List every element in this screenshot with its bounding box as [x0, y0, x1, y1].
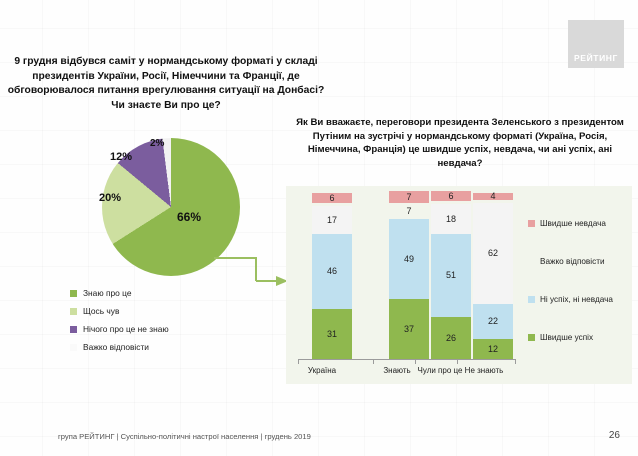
- pie-value-vazhko: 2%: [150, 138, 164, 149]
- axis-tick: [373, 360, 374, 364]
- bar-column-ukraina: 31 46 17 6: [312, 193, 352, 359]
- pie-legend-label: Знаю про це: [83, 288, 132, 298]
- bar-legend-label: Швидше невдача: [540, 219, 606, 228]
- pie-legend-item-3: Важко відповісти: [70, 342, 280, 352]
- bar-segment-green: 37: [389, 299, 429, 359]
- bar-segment-white: 7: [389, 206, 429, 219]
- bar-column-znaiut: 37 49 7 7: [389, 191, 429, 359]
- bar-legend-item-2: Ні успіх, ні невдача: [528, 280, 628, 318]
- bar-legend-label: Швидше успіх: [540, 333, 593, 342]
- legend-swatch-icon: [70, 308, 77, 315]
- bar-segment-white: 17: [312, 206, 352, 234]
- bar-legend-item-1: Важко відповісти: [528, 242, 628, 280]
- bar-segment-blue: 49: [389, 219, 429, 299]
- rating-logo: РЕЙТИНГ: [568, 20, 624, 68]
- axis-tick: [298, 360, 299, 364]
- bar-segment-blue: 22: [473, 304, 513, 340]
- pie-value-nichoho: 12%: [110, 151, 132, 163]
- bar-segment-green: 12: [473, 339, 513, 359]
- bar-legend: Швидше невдача Важко відповісти Ні успіх…: [528, 204, 628, 356]
- bar-segment-green: 26: [431, 317, 471, 359]
- bar-chart: 31 46 17 6 37 49 7 7 26 51 18 6 12: [286, 186, 632, 384]
- footer-source: група РЕЙТИНГ | Суспільно-політичні наст…: [58, 432, 311, 441]
- bar-segment-blue: 51: [431, 234, 471, 317]
- pie-legend-item-2: Нічого про це не знаю: [70, 324, 280, 334]
- pie-value-znaiu: 66%: [177, 210, 201, 224]
- pie-legend-label: Важко відповісти: [83, 342, 149, 352]
- bar-legend-label: Ні успіх, ні невдача: [540, 295, 613, 304]
- bar-column-chuly-pro-tse: 26 51 18 6: [431, 191, 471, 359]
- bar-legend-label: Важко відповісти: [540, 257, 605, 266]
- legend-swatch-icon: [528, 220, 535, 227]
- bar-segment-pink: 7: [389, 191, 429, 202]
- logo-text: РЕЙТИНГ: [574, 53, 618, 68]
- legend-swatch-icon: [70, 290, 77, 297]
- page-number: 26: [609, 430, 620, 441]
- bar-legend-item-3: Швидше успіх: [528, 318, 628, 356]
- bar-legend-item-0: Швидше невдача: [528, 204, 628, 242]
- bar-column-ne-znaiut: 12 22 62 4: [473, 193, 513, 359]
- x-axis-label-ukraina: Україна: [292, 366, 352, 375]
- bar-segment-white: 18: [431, 204, 471, 233]
- pie-legend-label: Нічого про це не знаю: [83, 324, 169, 334]
- legend-swatch-icon: [70, 326, 77, 333]
- legend-swatch-icon: [528, 258, 535, 265]
- x-axis-label-ne-znaiut: Не знають: [453, 366, 515, 375]
- bar-segment-blue: 46: [312, 234, 352, 309]
- pie-value-schos-chuv: 20%: [99, 192, 121, 204]
- bar-plot-area: 31 46 17 6 37 49 7 7 26 51 18 6 12: [298, 196, 516, 359]
- pie-legend: Знаю про це Щось чув Нічого про це не зн…: [70, 288, 280, 360]
- axis-tick: [415, 360, 416, 364]
- bar-segment-pink: 6: [312, 193, 352, 203]
- bar-segment-green: 31: [312, 309, 352, 360]
- connector-arrow-icon: [212, 255, 292, 290]
- legend-swatch-icon: [70, 344, 77, 351]
- bar-segment-pink: 6: [431, 191, 471, 201]
- bar-segment-white: 62: [473, 203, 513, 304]
- legend-swatch-icon: [528, 296, 535, 303]
- axis-tick: [457, 360, 458, 364]
- bar-segment-pink: 4: [473, 193, 513, 200]
- x-axis: [298, 359, 516, 365]
- right-question-title: Як Ви вважаєте, переговори президента Зе…: [288, 116, 632, 170]
- pie-legend-item-1: Щось чув: [70, 306, 280, 316]
- pie-legend-label: Щось чув: [83, 306, 119, 316]
- left-question-title: 9 грудня відбувся саміт у нормандському …: [6, 55, 326, 113]
- axis-tick: [515, 360, 516, 364]
- slide-canvas: РЕЙТИНГ 9 грудня відбувся саміт у норман…: [0, 0, 638, 456]
- legend-swatch-icon: [528, 334, 535, 341]
